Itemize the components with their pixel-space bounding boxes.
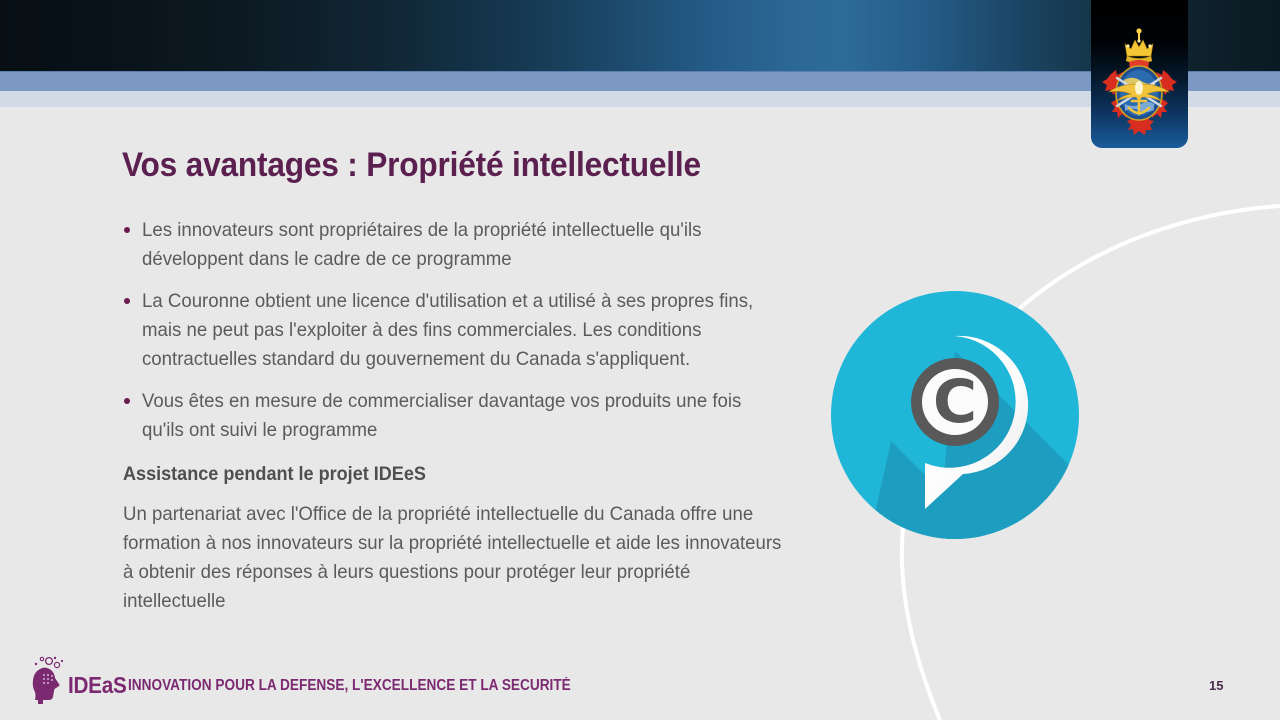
bullet-dot-icon (124, 298, 130, 304)
content-body: Les innovateurs sont propriétaires de la… (122, 216, 802, 616)
list-item: La Couronne obtient une licence d'utilis… (122, 287, 802, 374)
bullet-text: Vous êtes en mesure de commercialiser da… (142, 387, 772, 445)
slide-canvas: C (0, 0, 1280, 720)
bullet-text: Les innovateurs sont propriétaires de la… (142, 216, 772, 274)
page-number: 15 (1209, 678, 1223, 693)
footer-wordmark: IDEaS (68, 672, 126, 699)
copyright-speech-bubble-icon: C (831, 291, 1079, 539)
svg-text:C: C (933, 367, 977, 437)
header-navy-band (0, 0, 1280, 71)
list-item: Vous êtes en mesure de commercialiser da… (122, 387, 802, 445)
bullet-text: La Couronne obtient une licence d'utilis… (142, 287, 772, 374)
bullet-dot-icon (124, 398, 130, 404)
header-light-band (0, 91, 1280, 107)
section-subheading: Assistance pendant le projet IDEeS (123, 461, 768, 489)
footer-tagline: INNOVATION POUR LA DEFENSE, L'EXCELLENCE… (128, 677, 571, 695)
bullet-dot-icon (124, 227, 130, 233)
ideas-head-gears-logo (27, 655, 71, 707)
section-paragraph: Un partenariat avec l'Office de la propr… (123, 500, 782, 616)
canadian-armed-forces-crest-icon (1091, 20, 1188, 140)
list-item: Les innovateurs sont propriétaires de la… (122, 216, 802, 274)
page-title: Vos avantages : Propriété intellectuelle (122, 146, 922, 185)
header-blue-band (0, 71, 1280, 92)
